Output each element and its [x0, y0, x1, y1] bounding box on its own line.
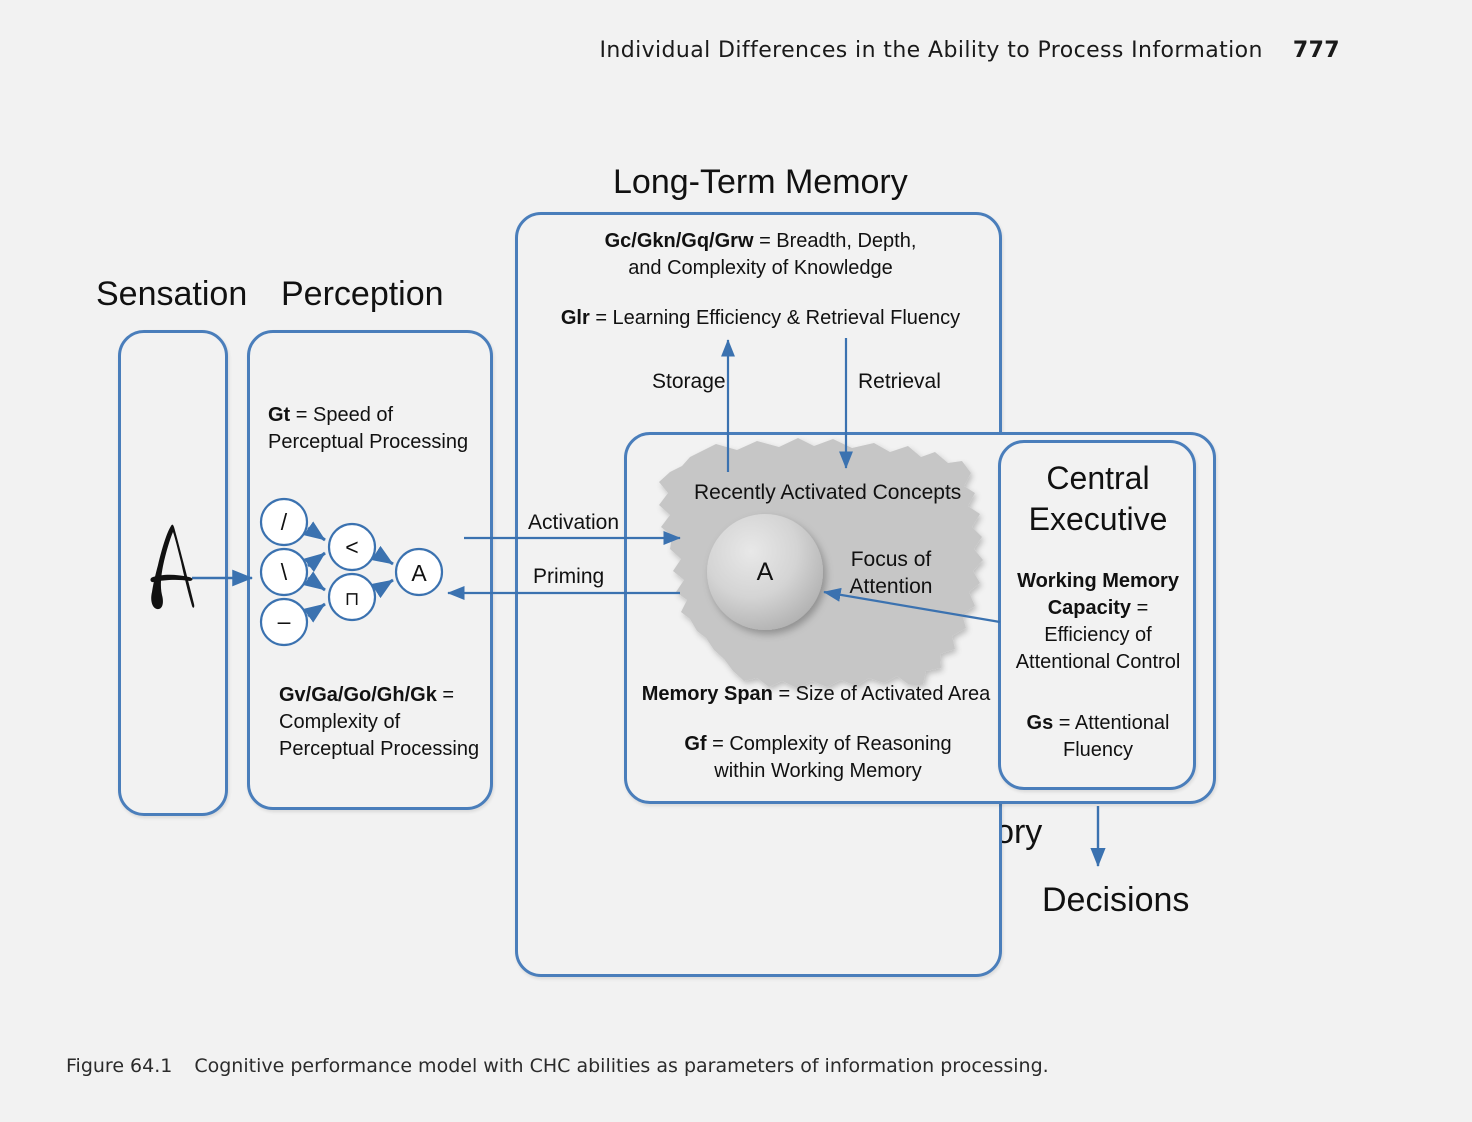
- figure-caption: Figure 64.1Cognitive performance model w…: [66, 1055, 1266, 1077]
- running-head-title: Individual Differences in the Ability to…: [600, 38, 1263, 63]
- node-label-bar: ⊓: [345, 589, 360, 610]
- perception-gv-text: Gv/Ga/Go/Gh/Gk = Complexity of Perceptua…: [279, 682, 489, 763]
- wmc-line2: Efficiency of: [1044, 624, 1151, 646]
- working-memory-capacity-text: Working Memory Capacity = Efficiency of …: [1006, 568, 1190, 676]
- perception-title: Perception: [281, 275, 444, 314]
- node-label-angle: <: [345, 534, 358, 560]
- node-label-output-a: A: [411, 560, 427, 586]
- decisions-label: Decisions: [1042, 881, 1189, 920]
- wmc-bold: Working Memory Capacity: [1017, 570, 1179, 619]
- node-label-backslash: \: [281, 559, 288, 585]
- focus-of-attention-label: Focus of Attention: [831, 546, 951, 601]
- storage-arrow-label: Storage: [652, 370, 726, 394]
- wmc-line3: Attentional Control: [1016, 651, 1181, 673]
- ce-title-line1: Central: [1046, 460, 1149, 496]
- gs-bold: Gs: [1027, 712, 1054, 734]
- recently-activated-concepts-label: Recently Activated Concepts: [694, 481, 961, 505]
- focus-label-line2: Attention: [850, 575, 933, 598]
- gf-bold: Gf: [684, 733, 706, 755]
- long-term-memory-title: Long-Term Memory: [613, 163, 908, 202]
- gs-cont: Fluency: [1063, 739, 1133, 761]
- focus-label-line1: Focus of: [851, 548, 932, 571]
- retrieval-arrow-label: Retrieval: [858, 370, 941, 394]
- running-head: Individual Differences in the Ability to…: [0, 38, 1340, 63]
- gs-text: Gs = Attentional Fluency: [1006, 710, 1190, 764]
- node-label-dash: –: [278, 608, 291, 634]
- memory-span-rest: = Size of Activated Area: [773, 683, 990, 705]
- priming-arrow-label: Priming: [533, 565, 604, 589]
- activation-arrow-label: Activation: [528, 511, 619, 535]
- central-executive-title: Central Executive: [1010, 458, 1186, 540]
- ltm-line2-bold: Glr: [561, 307, 590, 329]
- gf-text: Gf = Complexity of Reasoning within Work…: [648, 731, 988, 785]
- gt-bold: Gt: [268, 404, 290, 426]
- memory-span-text: Memory Span = Size of Activated Area: [636, 681, 996, 708]
- gf-rest: = Complexity of Reasoning: [707, 733, 952, 755]
- gv-bold: Gv/Ga/Go/Gh/Gk: [279, 684, 437, 706]
- memory-span-bold: Memory Span: [642, 683, 773, 705]
- gs-rest: = Attentional: [1053, 712, 1169, 734]
- ltm-line2-rest: = Learning Efficiency & Retrieval Fluenc…: [590, 307, 960, 329]
- node-label-slash: /: [281, 509, 288, 535]
- ltm-line1-cont: and Complexity of Knowledge: [628, 257, 893, 279]
- handwritten-letter-a-glyph: [142, 522, 204, 614]
- perception-feature-network: / \ – < ⊓ A: [258, 496, 458, 648]
- ltm-line1-rest: = Breadth, Depth,: [754, 230, 917, 252]
- figure-page: Individual Differences in the Ability to…: [0, 0, 1472, 1122]
- wmc-rest: =: [1131, 597, 1148, 619]
- ltm-line1-bold: Gc/Gkn/Gq/Grw: [605, 230, 754, 252]
- gt-rest: = Speed of Perceptual Processing: [268, 404, 468, 453]
- ce-title-line2: Executive: [1029, 501, 1168, 537]
- page-number: 777: [1293, 38, 1340, 63]
- figure-caption-text: Cognitive performance model with CHC abi…: [194, 1055, 1048, 1077]
- gf-cont: within Working Memory: [714, 760, 921, 782]
- sphere-letter-label: A: [735, 558, 795, 587]
- ltm-knowledge-text: Gc/Gkn/Gq/Grw = Breadth, Depth, and Comp…: [533, 228, 988, 282]
- figure-number: Figure 64.1: [66, 1055, 172, 1077]
- sensation-title: Sensation: [96, 275, 247, 314]
- perception-gt-text: Gt = Speed of Perceptual Processing: [268, 402, 488, 456]
- ltm-glr-text: Glr = Learning Efficiency & Retrieval Fl…: [533, 305, 988, 332]
